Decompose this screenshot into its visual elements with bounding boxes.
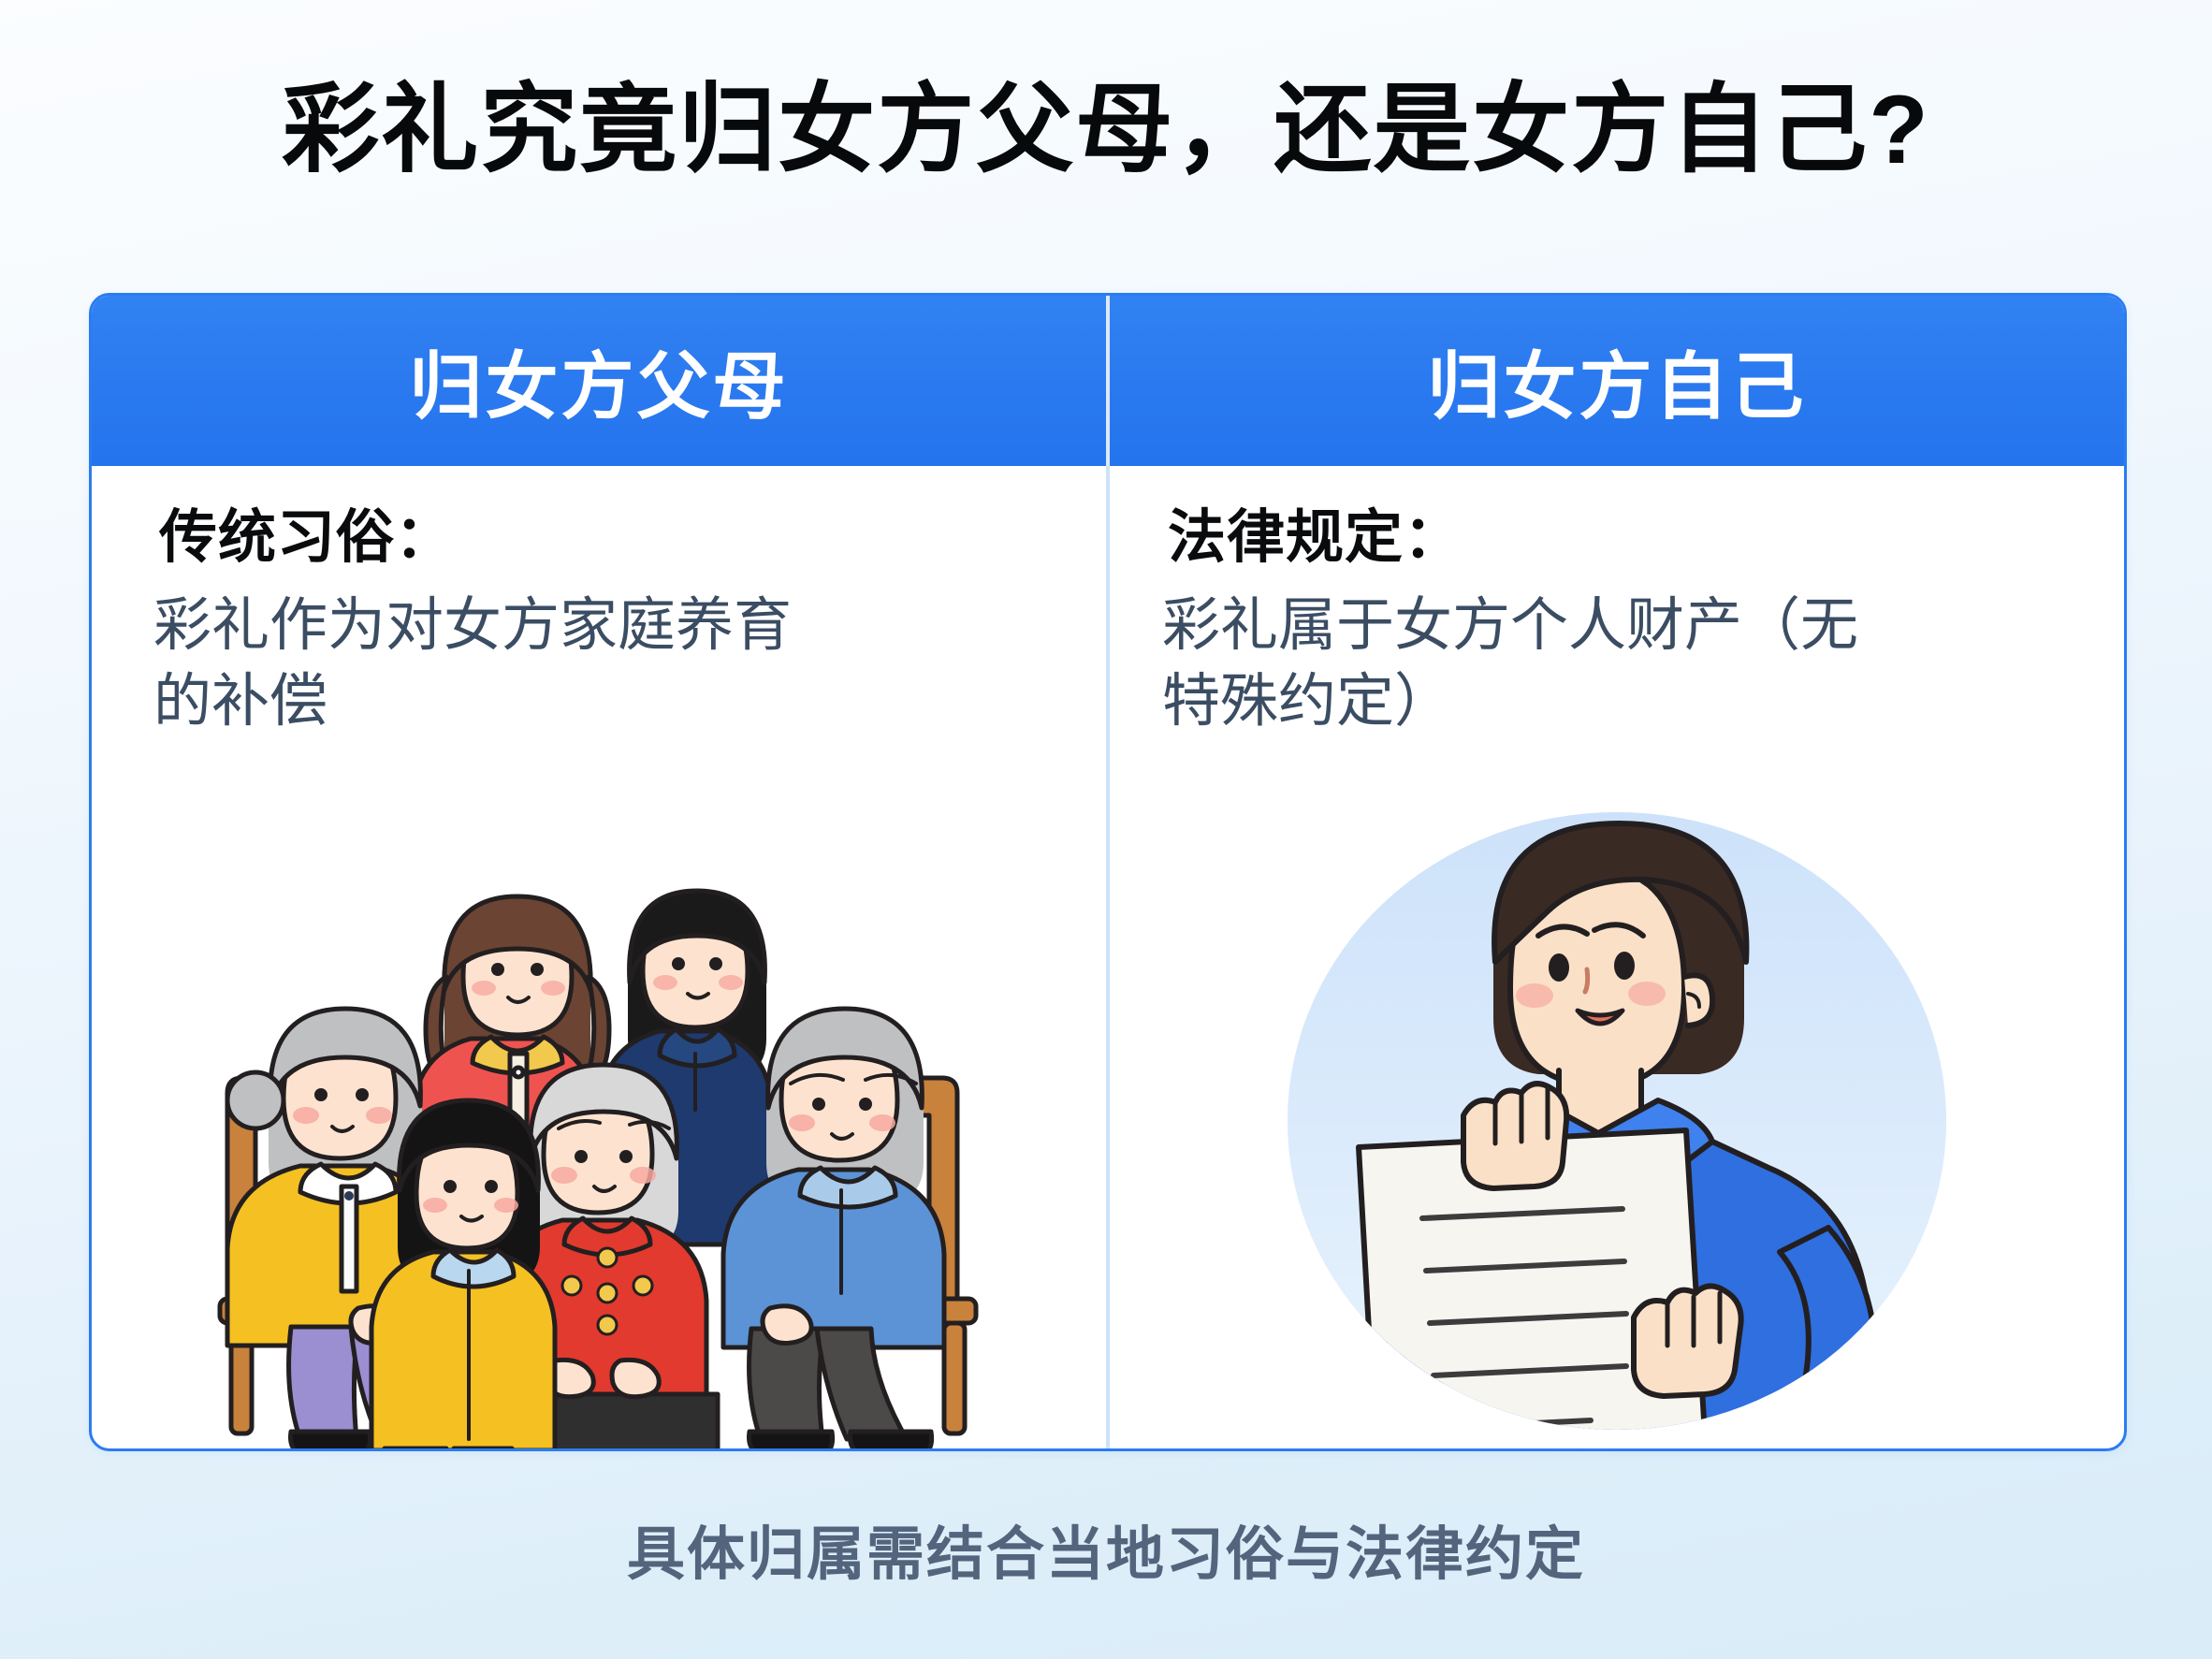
comparison-card: 归女方父母 归女方自己 传统习俗： 彩礼作为对女方家庭养育的补偿 [89, 293, 2127, 1451]
family-portrait-illustration [92, 740, 1106, 1448]
column-header-right: 归女方自己 [1110, 296, 2124, 466]
card-header-row: 归女方父母 归女方自己 [92, 296, 2124, 466]
card-body-row: 传统习俗： 彩礼作为对女方家庭养育的补偿 [92, 466, 2124, 1448]
footer-note: 具体归属需结合当地习俗与法律约定 [0, 1506, 2212, 1591]
left-column-description: 彩礼作为对女方家庭养育的补偿 [92, 575, 840, 741]
man-holding-document-illustration [1110, 740, 2124, 1448]
left-column-heading: 传统习俗： [92, 502, 1106, 575]
page-title: 彩礼究竟归女方父母，还是女方自己? [0, 77, 2212, 183]
column-right: 法律规定： 彩礼属于女方个人财产（无特殊约定） [1110, 466, 2124, 1448]
right-column-heading: 法律规定： [1110, 502, 2124, 575]
right-column-description: 彩礼属于女方个人财产（无特殊约定） [1110, 575, 1858, 741]
column-header-left: 归女方父母 [92, 296, 1106, 466]
column-left: 传统习俗： 彩礼作为对女方家庭养育的补偿 [92, 466, 1106, 1448]
